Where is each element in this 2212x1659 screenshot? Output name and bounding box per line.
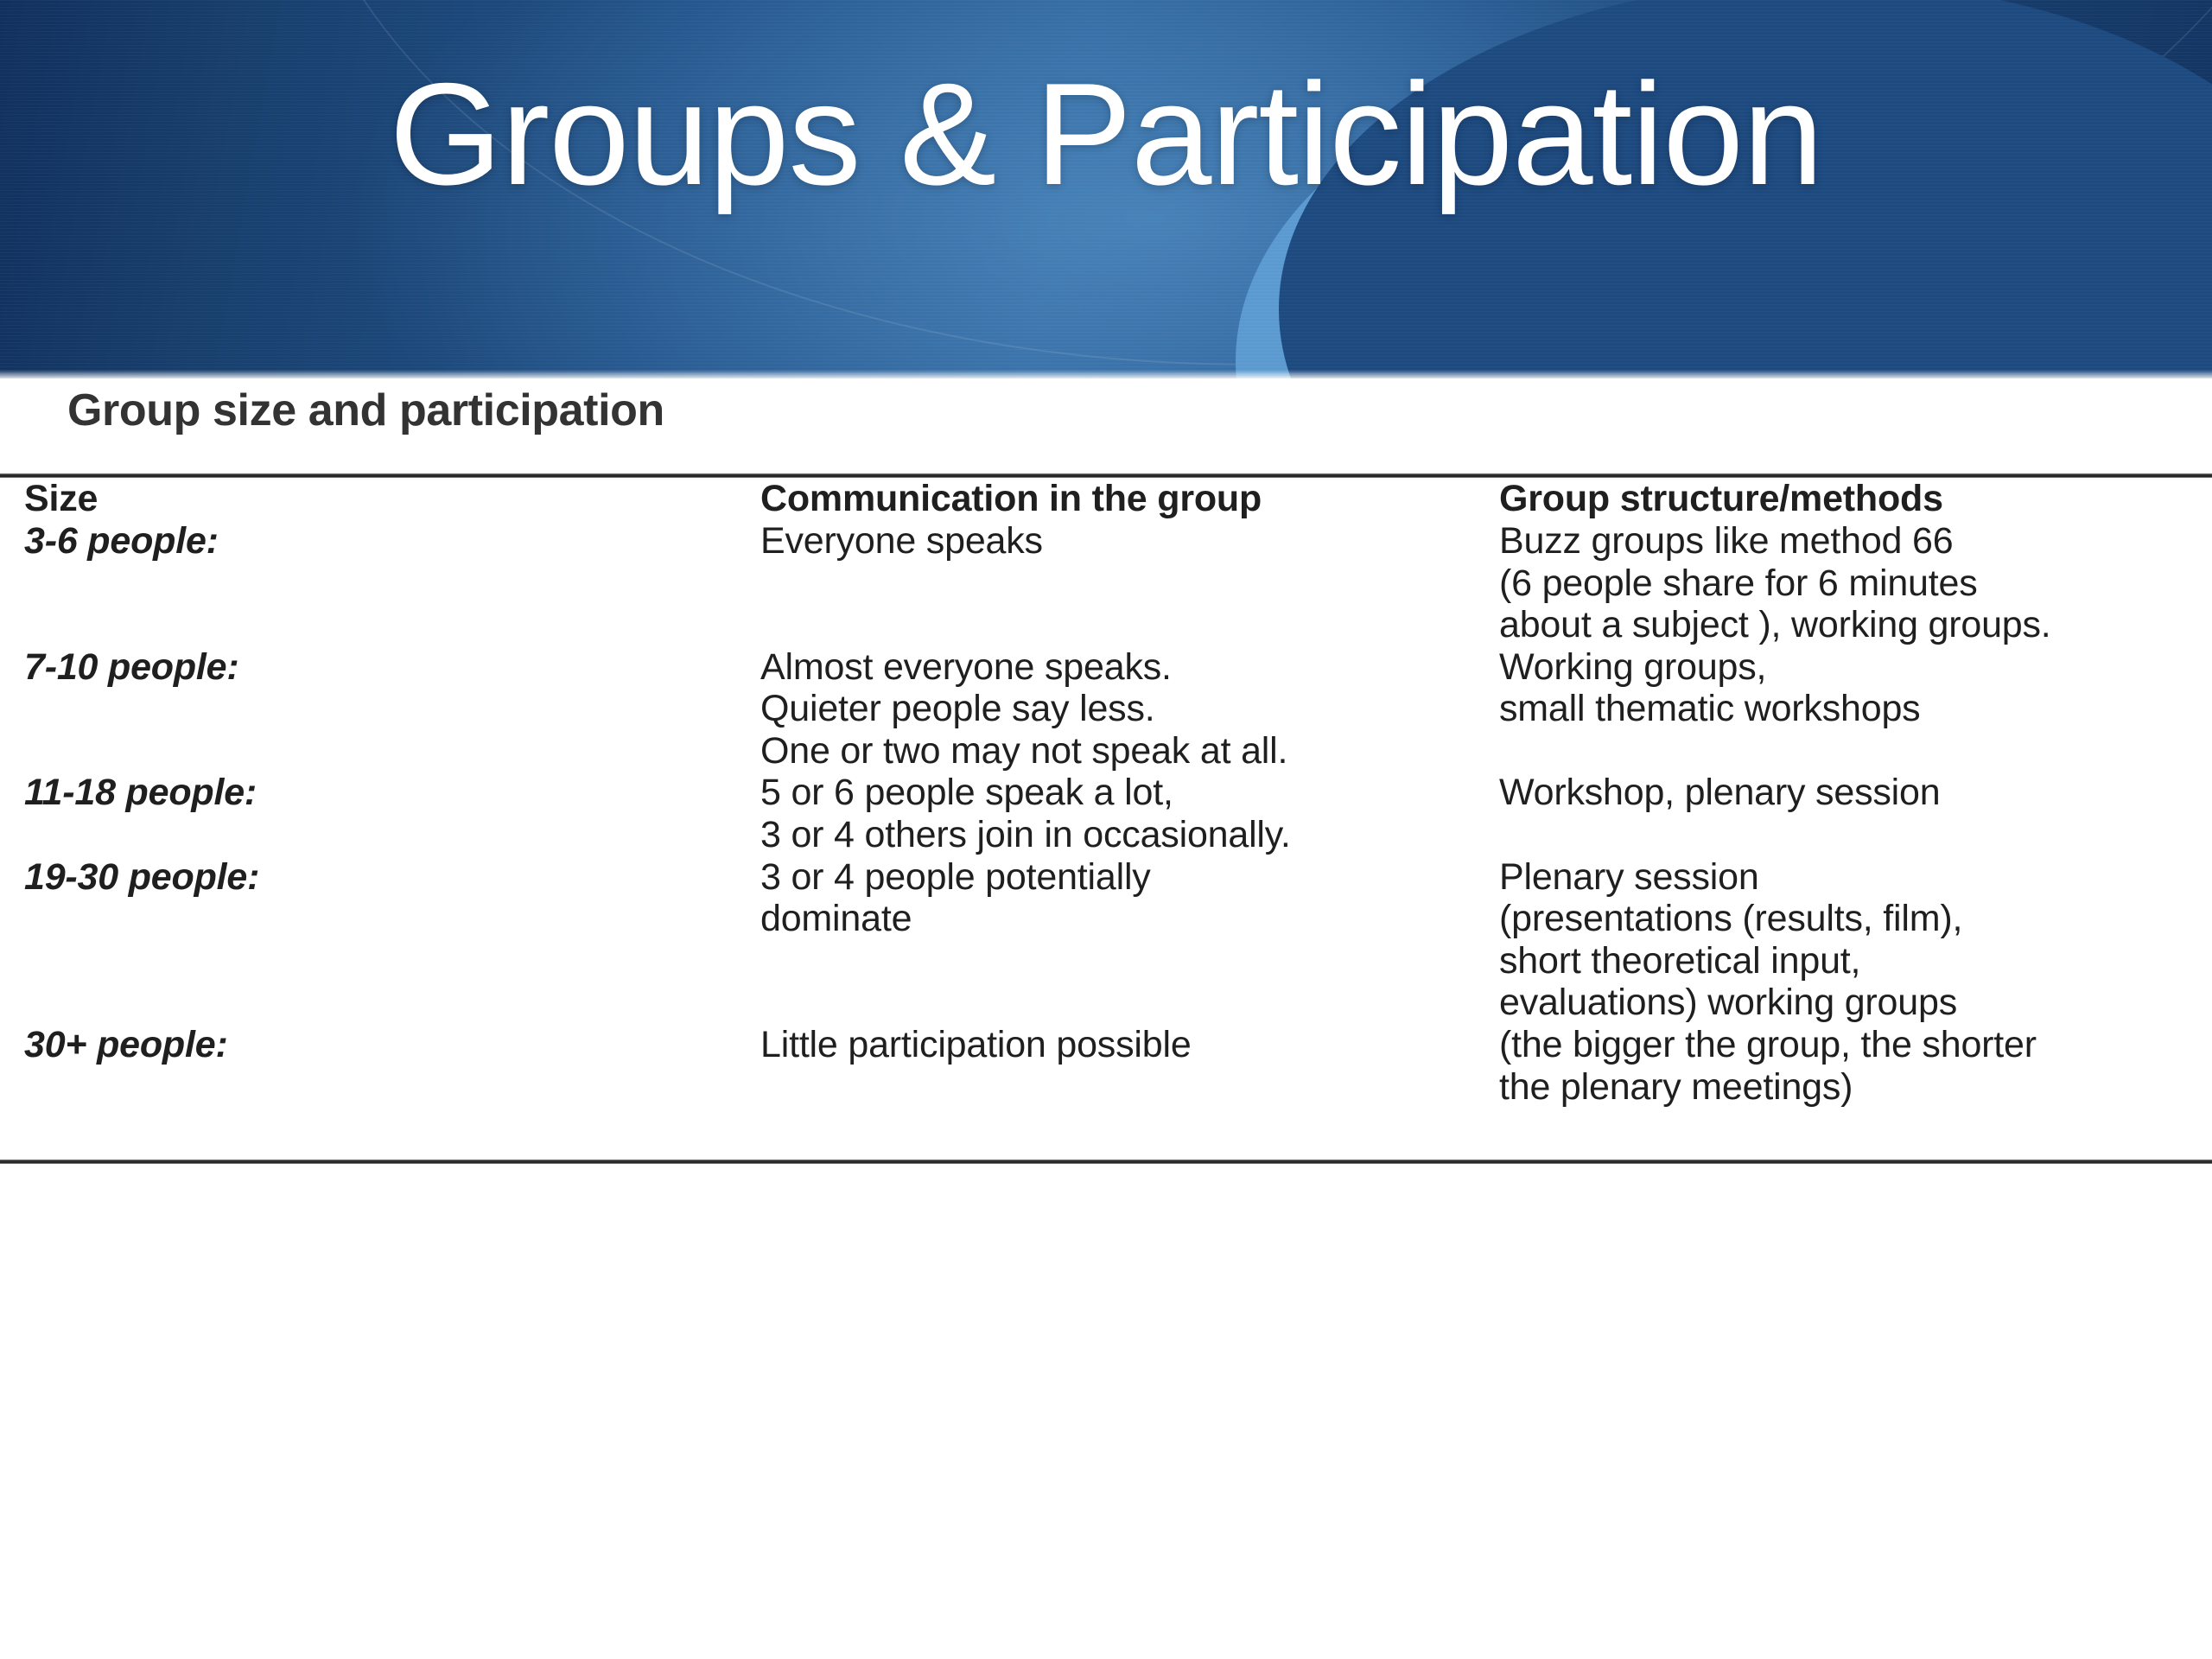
text-line: small thematic workshops [1499, 688, 2212, 730]
cell-communication: 5 or 6 people speak a lot, 3 or 4 others… [760, 772, 1499, 855]
text-line: Workshop, plenary session [1499, 772, 2212, 814]
cell-structure: Workshop, plenary session [1499, 772, 2212, 855]
page-title: Groups & Participation [0, 0, 2212, 378]
table-row: 19-30 people: 3 or 4 people potentially … [0, 856, 2212, 1024]
text-line: evaluations) working groups [1499, 982, 2212, 1024]
text-line: short theoretical input, [1499, 940, 2212, 982]
table-row: 30+ people: Little participation possibl… [0, 1024, 2212, 1160]
cell-communication: Everyone speaks [760, 520, 1499, 646]
cell-size: 30+ people: [0, 1024, 760, 1160]
cell-structure: Buzz groups like method 66 (6 people sha… [1499, 520, 2212, 646]
cell-size: 7-10 people: [0, 646, 760, 772]
table-row: 11-18 people: 5 or 6 people speak a lot,… [0, 772, 2212, 855]
cell-size: 19-30 people: [0, 856, 760, 1024]
text-line: One or two may not speak at all. [760, 730, 1499, 772]
section-subtitle: Group size and participation [67, 385, 664, 436]
text-line: the plenary meetings) [1499, 1066, 2212, 1109]
text-line: dominate [760, 898, 1499, 940]
group-size-table: Size Communication in the group Group st… [0, 474, 2212, 1164]
column-header-structure: Group structure/methods [1499, 478, 2212, 520]
text-line: 5 or 6 people speak a lot, [760, 772, 1499, 814]
text-line: 3 or 4 others join in occasionally. [760, 814, 1499, 856]
text-line: Little participation possible [760, 1024, 1499, 1066]
cell-structure: (the bigger the group, the shorter the p… [1499, 1024, 2212, 1160]
table-row: 3-6 people: Everyone speaks Buzz groups … [0, 520, 2212, 646]
group-size-grid: Size Communication in the group Group st… [0, 478, 2212, 1160]
cell-communication: 3 or 4 people potentially dominate [760, 856, 1499, 1024]
table-bottom-rule [0, 1160, 2212, 1164]
cell-communication: Almost everyone speaks. Quieter people s… [760, 646, 1499, 772]
text-line: Buzz groups like method 66 [1499, 520, 2212, 563]
text-line: Plenary session [1499, 856, 2212, 899]
text-line: (the bigger the group, the shorter [1499, 1024, 2212, 1066]
text-line: Working groups, [1499, 646, 2212, 689]
column-header-size: Size [0, 478, 760, 520]
cell-structure: Working groups, small thematic workshops [1499, 646, 2212, 772]
column-header-communication: Communication in the group [760, 478, 1499, 520]
table-row: 7-10 people: Almost everyone speaks. Qui… [0, 646, 2212, 772]
text-line: Everyone speaks [760, 520, 1499, 563]
text-line: about a subject ), working groups. [1499, 604, 2212, 646]
text-line: 3 or 4 people potentially [760, 856, 1499, 899]
cell-structure: Plenary session (presentations (results,… [1499, 856, 2212, 1024]
cell-size: 11-18 people: [0, 772, 760, 855]
cell-communication: Little participation possible [760, 1024, 1499, 1160]
cell-size: 3-6 people: [0, 520, 760, 646]
text-line: Almost everyone speaks. [760, 646, 1499, 689]
text-line: Quieter people say less. [760, 688, 1499, 730]
slide: Groups & Participation Group size and pa… [0, 0, 2212, 1659]
table-header-row: Size Communication in the group Group st… [0, 478, 2212, 520]
text-line: (6 people share for 6 minutes [1499, 563, 2212, 605]
text-line: (presentations (results, film), [1499, 898, 2212, 940]
